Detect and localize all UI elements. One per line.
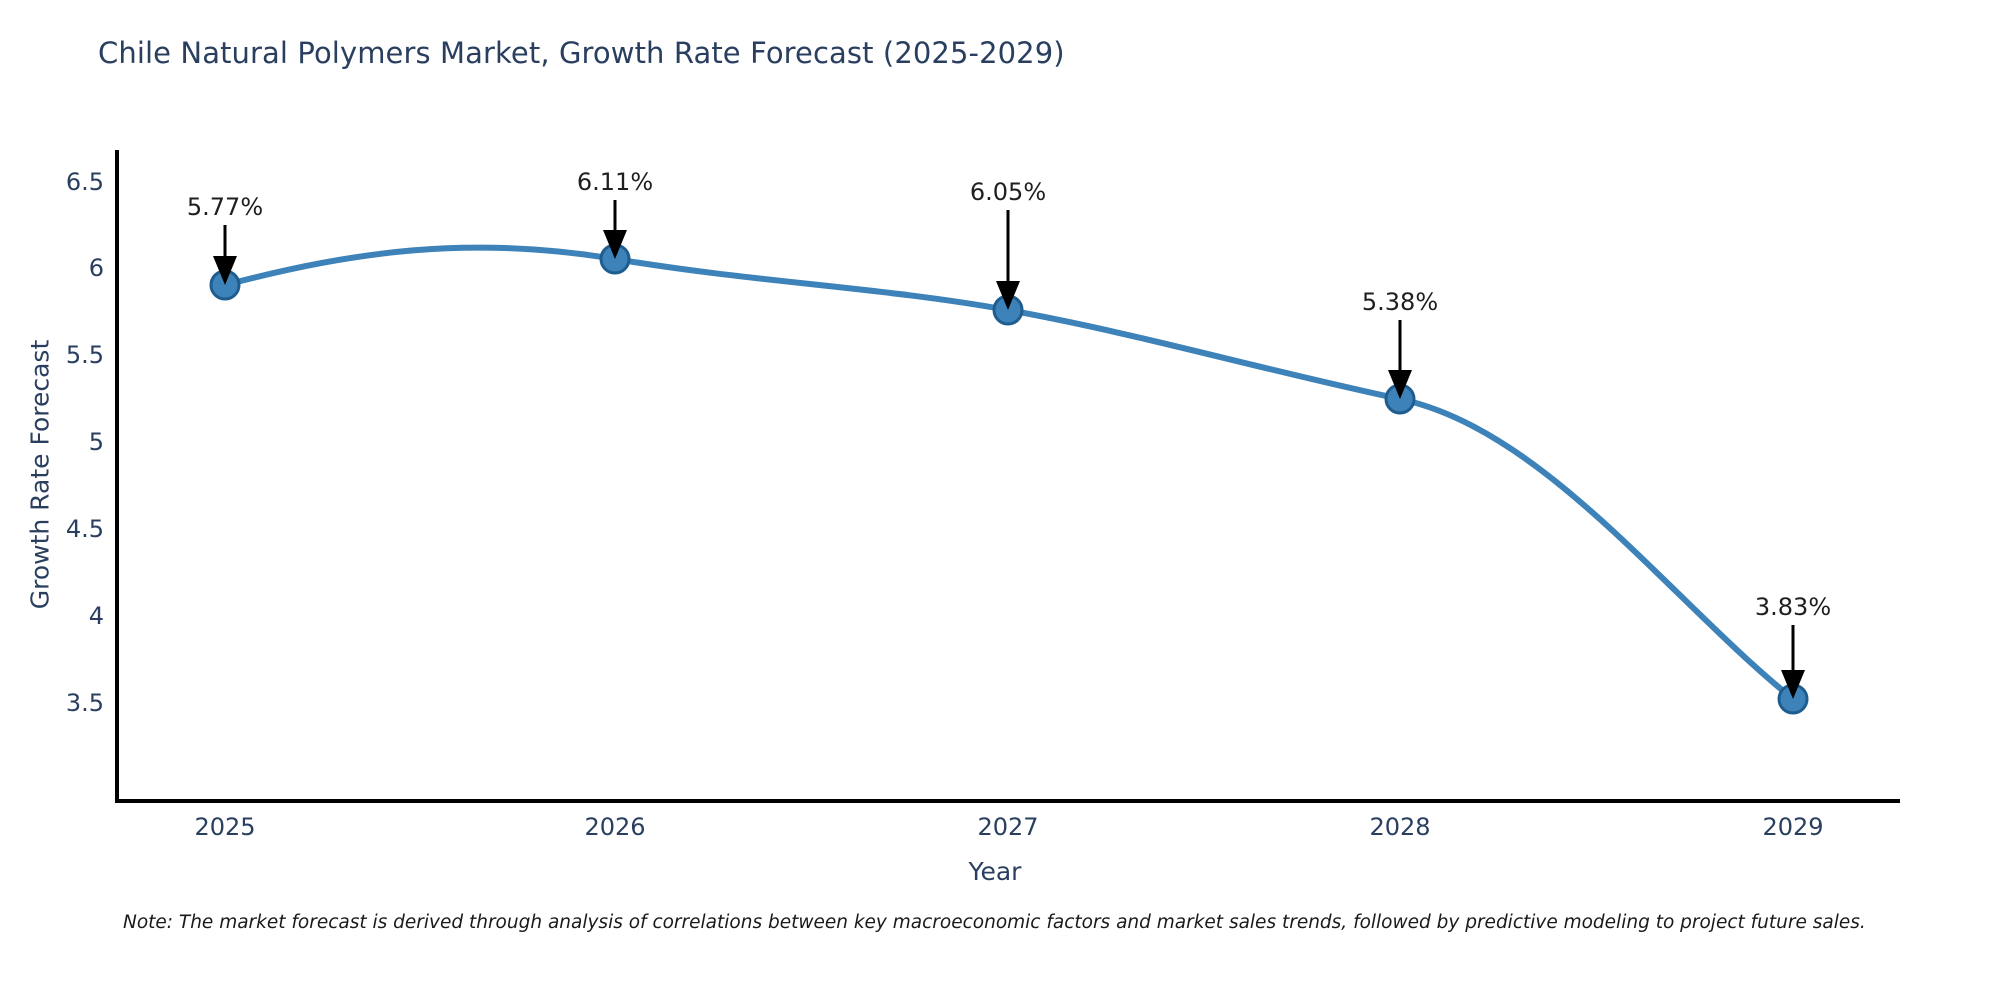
x-axis-title-wrap: Year (0, 857, 2000, 886)
y-tick-label: 6 (89, 254, 104, 282)
x-tick-label: 2027 (977, 813, 1038, 841)
x-tick-label: 2028 (1369, 813, 1430, 841)
data-point-label: 3.83% (1755, 593, 1831, 621)
y-tick-label: 5 (89, 428, 104, 456)
data-point-label: 6.11% (577, 168, 653, 196)
chart-container: Chile Natural Polymers Market, Growth Ra… (0, 0, 2000, 1000)
chart-note: Note: The market forecast is derived thr… (123, 912, 2000, 933)
y-tick-label: 3.5 (66, 689, 104, 717)
plot-area: 6.5 6 5.5 5 4.5 4 3.5 2025 2026 2027 202… (0, 0, 2000, 1000)
y-tick-label: 6.5 (66, 168, 104, 196)
annotation-arrow-icon (996, 210, 1020, 310)
y-tick-label: 4 (89, 602, 104, 630)
x-tick-label: 2025 (194, 813, 255, 841)
x-axis-title: Year (969, 857, 1022, 886)
data-point-label: 5.38% (1362, 288, 1438, 316)
data-point-label: 6.05% (970, 178, 1046, 206)
data-point-label: 5.77% (187, 193, 263, 221)
y-tick-label: 5.5 (66, 341, 104, 369)
y-tick-label: 4.5 (66, 515, 104, 543)
x-tick-label: 2029 (1762, 813, 1823, 841)
x-tick-label: 2026 (584, 813, 645, 841)
